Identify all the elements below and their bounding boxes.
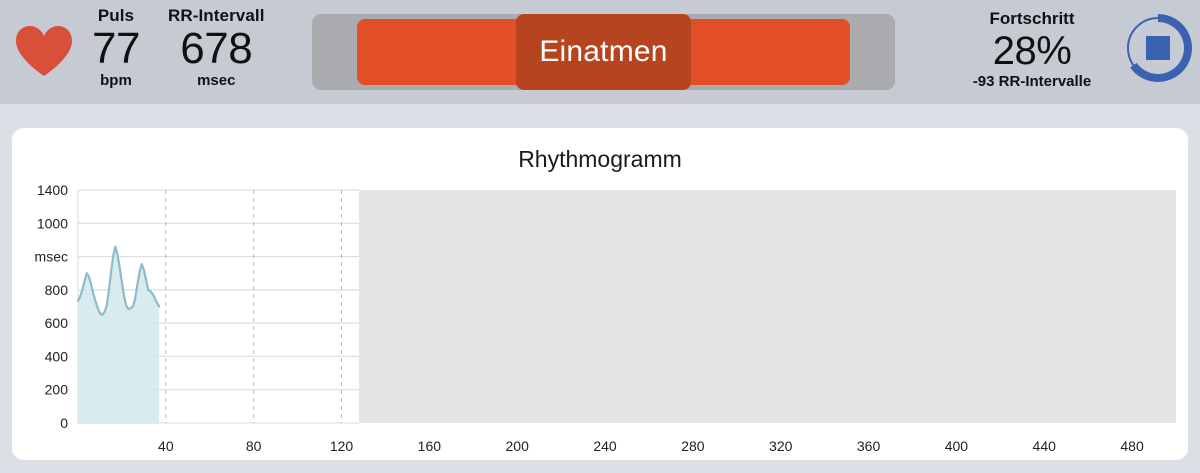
svg-text:msec: msec bbox=[35, 249, 68, 265]
metric-rr-interval-value: 678 bbox=[168, 26, 265, 72]
rhythmogram-chart: 0200400600800msec10001400 40801201602002… bbox=[12, 128, 1188, 460]
status-header-bar: Puls 77 bpm RR-Intervall 678 msec Einatm… bbox=[0, 0, 1200, 104]
progress-percent: 28% bbox=[944, 29, 1120, 73]
svg-text:1400: 1400 bbox=[37, 182, 68, 198]
svg-text:240: 240 bbox=[593, 438, 617, 454]
x-axis-tick-labels: 4080120160200240280320360400440480 bbox=[158, 438, 1144, 454]
svg-text:400: 400 bbox=[45, 348, 69, 364]
svg-text:0: 0 bbox=[60, 415, 68, 431]
svg-text:360: 360 bbox=[857, 438, 881, 454]
svg-text:160: 160 bbox=[418, 438, 442, 454]
y-axis-tick-labels: 0200400600800msec10001400 bbox=[35, 182, 69, 431]
metric-rr-interval-label: RR-Intervall bbox=[168, 6, 265, 26]
metric-pulse-unit: bpm bbox=[92, 72, 140, 90]
svg-text:40: 40 bbox=[158, 438, 174, 454]
heart-icon bbox=[14, 24, 74, 78]
progress-group: Fortschritt 28% -93 RR-Intervalle bbox=[944, 8, 1120, 91]
svg-text:200: 200 bbox=[45, 382, 69, 398]
breathing-phase-label: Einatmen bbox=[539, 35, 667, 69]
svg-text:280: 280 bbox=[681, 438, 705, 454]
breathing-pacer: Einatmen bbox=[312, 14, 895, 90]
metric-pulse-label: Puls bbox=[92, 6, 140, 26]
inactive-region bbox=[359, 190, 1176, 423]
metric-rr-interval: RR-Intervall 678 msec bbox=[154, 6, 279, 90]
svg-text:320: 320 bbox=[769, 438, 793, 454]
stop-button[interactable] bbox=[1123, 13, 1193, 83]
progress-title: Fortschritt bbox=[944, 8, 1120, 29]
svg-text:480: 480 bbox=[1120, 438, 1144, 454]
metric-pulse-value: 77 bbox=[92, 26, 140, 72]
svg-text:600: 600 bbox=[45, 315, 69, 331]
progress-subtitle: -93 RR-Intervalle bbox=[944, 73, 1120, 91]
vitals-group: Puls 77 bpm RR-Intervall 678 msec bbox=[78, 6, 279, 90]
metric-pulse: Puls 77 bpm bbox=[78, 6, 154, 90]
rhythmogram-card: Rhythmogramm 0200400600800msec10001400 4… bbox=[12, 128, 1188, 460]
svg-text:200: 200 bbox=[506, 438, 530, 454]
metric-rr-interval-unit: msec bbox=[168, 72, 265, 90]
svg-text:800: 800 bbox=[45, 282, 69, 298]
rr-series-area bbox=[78, 247, 159, 423]
svg-text:80: 80 bbox=[246, 438, 262, 454]
svg-text:400: 400 bbox=[945, 438, 969, 454]
svg-text:440: 440 bbox=[1033, 438, 1057, 454]
breathing-phase-chip: Einatmen bbox=[516, 14, 691, 90]
svg-text:1000: 1000 bbox=[37, 215, 68, 231]
svg-text:120: 120 bbox=[330, 438, 354, 454]
stop-square-icon bbox=[1146, 36, 1170, 60]
